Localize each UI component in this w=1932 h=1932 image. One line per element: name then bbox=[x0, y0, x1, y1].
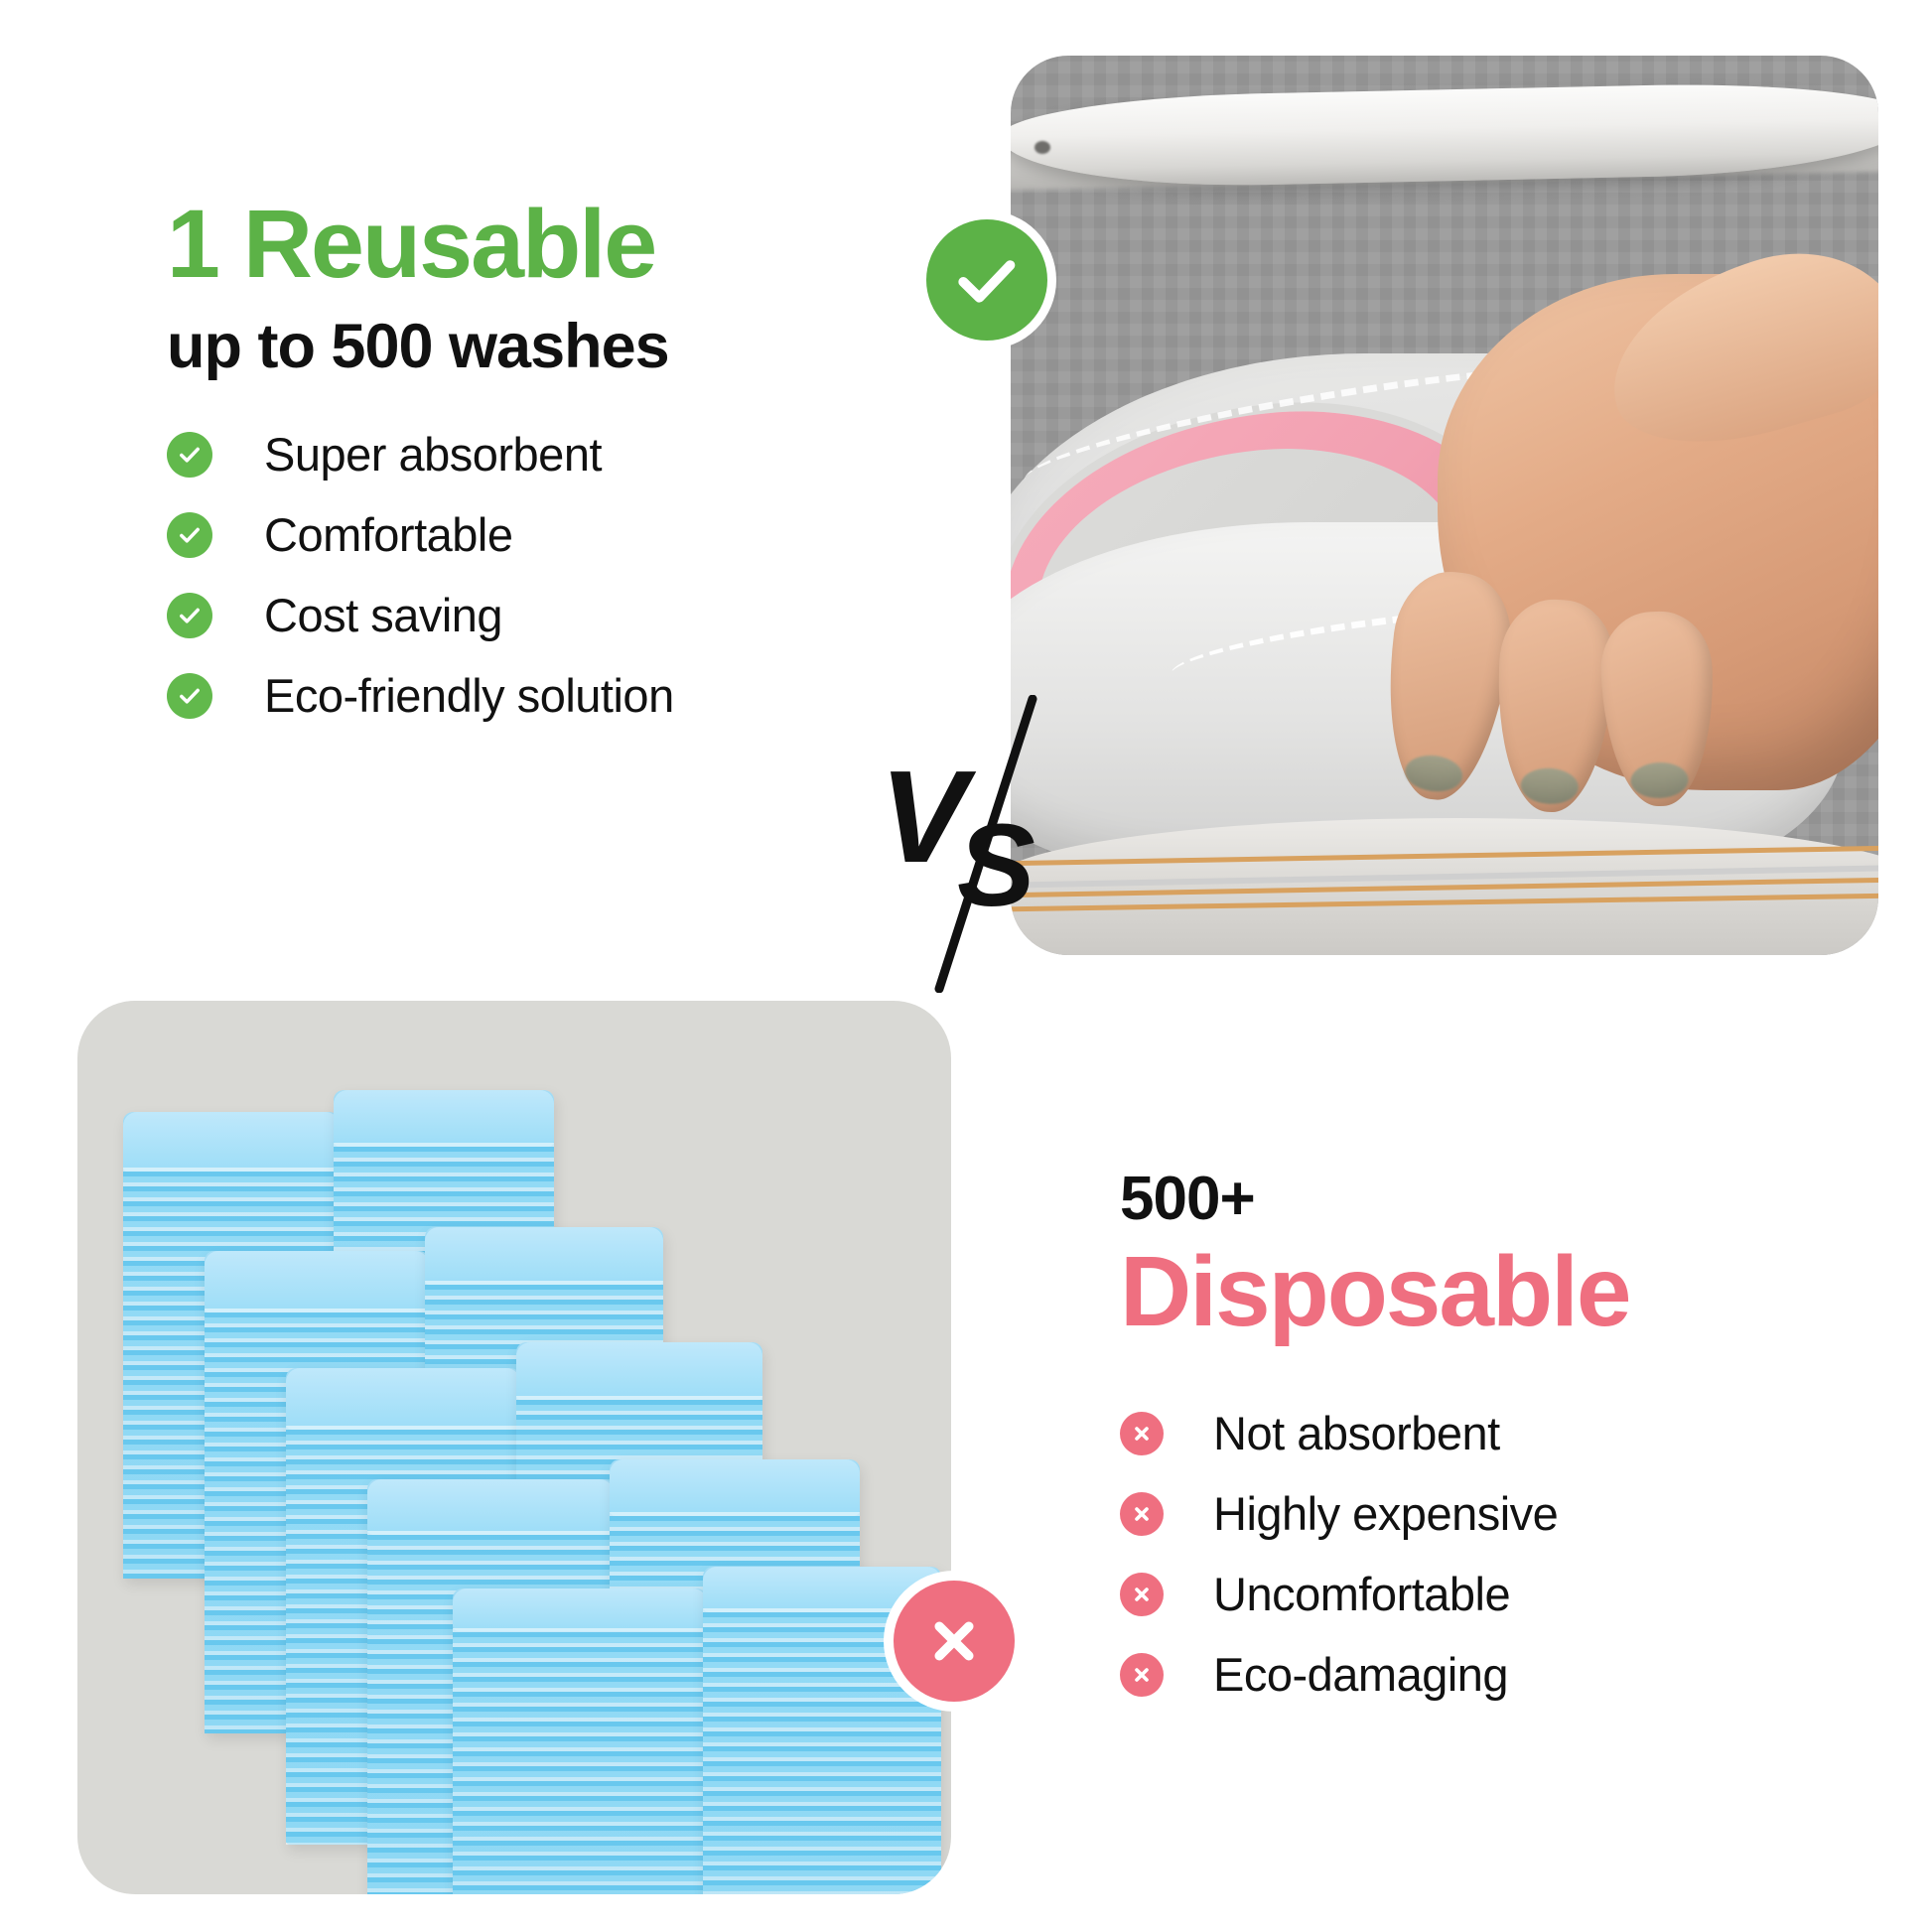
close-icon bbox=[1130, 1502, 1154, 1526]
disposable-count: 500+ bbox=[1120, 1167, 1855, 1231]
pad-stack-top bbox=[516, 1342, 762, 1401]
pad-stack-layers bbox=[453, 1628, 707, 1894]
pad-stack-top bbox=[453, 1588, 707, 1631]
list-item-label: Eco-friendly solution bbox=[264, 668, 674, 723]
list-item: Highly expensive bbox=[1120, 1486, 1855, 1541]
disposable-text-block: 500+ Disposable Not absorbent Highly exp… bbox=[1120, 1167, 1855, 1727]
x-circle-icon bbox=[1120, 1653, 1164, 1697]
pad-stack-top bbox=[610, 1459, 860, 1516]
check-icon bbox=[176, 521, 204, 549]
fingernail-1 bbox=[1403, 753, 1464, 795]
list-item-label: Eco-damaging bbox=[1213, 1647, 1508, 1702]
list-item-label: Highly expensive bbox=[1213, 1486, 1558, 1541]
red-x-badge-icon bbox=[884, 1571, 1025, 1712]
list-item: Eco-damaging bbox=[1120, 1647, 1855, 1702]
list-item-label: Comfortable bbox=[264, 507, 513, 562]
check-circle-icon bbox=[167, 593, 212, 638]
reusable-underwear-in-washing-machine-photo bbox=[1011, 56, 1878, 955]
list-item-label: Uncomfortable bbox=[1213, 1567, 1510, 1621]
list-item-label: Super absorbent bbox=[264, 427, 602, 482]
list-item: Eco-friendly solution bbox=[167, 668, 862, 723]
drum-wire-lines-icon bbox=[1011, 846, 1878, 915]
page-title-disposable: Disposable bbox=[1120, 1239, 1855, 1344]
fingernail-2 bbox=[1520, 766, 1580, 805]
close-icon bbox=[1130, 1663, 1154, 1687]
pad-stack-top bbox=[123, 1112, 340, 1173]
pad-stack-top bbox=[286, 1368, 520, 1430]
close-icon bbox=[921, 1608, 987, 1674]
check-icon bbox=[176, 441, 204, 469]
check-icon bbox=[949, 242, 1025, 318]
pad-stack-top bbox=[367, 1479, 614, 1535]
pad-stack bbox=[453, 1588, 707, 1894]
pad-stack-top bbox=[425, 1227, 663, 1286]
check-icon bbox=[176, 602, 204, 629]
svg-text:S: S bbox=[957, 800, 1035, 931]
list-item-label: Not absorbent bbox=[1213, 1406, 1500, 1460]
list-item: Not absorbent bbox=[1120, 1406, 1855, 1460]
list-item-label: Cost saving bbox=[264, 588, 502, 642]
x-circle-icon bbox=[1120, 1573, 1164, 1616]
reusable-text-block: 1 Reusable up to 500 washes Super absorb… bbox=[167, 195, 862, 749]
list-item: Cost saving bbox=[167, 588, 862, 642]
fingernail-3 bbox=[1630, 761, 1689, 799]
close-icon bbox=[1130, 1583, 1154, 1606]
green-check-badge-icon bbox=[917, 210, 1056, 349]
green-check-disc bbox=[926, 219, 1047, 341]
disposable-con-list: Not absorbent Highly expensive Uncomfort… bbox=[1120, 1406, 1855, 1702]
pad-stack-top bbox=[334, 1090, 554, 1147]
versus-mark: V S bbox=[874, 695, 1132, 993]
comparison-infographic: V S 1 Reusable up to 500 washes Super ab… bbox=[0, 0, 1932, 1932]
check-circle-icon bbox=[167, 512, 212, 558]
list-item: Uncomfortable bbox=[1120, 1567, 1855, 1621]
check-circle-icon bbox=[167, 432, 212, 478]
x-circle-icon bbox=[1120, 1492, 1164, 1536]
reusable-feature-list: Super absorbent Comfortable Cost saving bbox=[167, 427, 862, 723]
pad-stack-top bbox=[205, 1251, 429, 1313]
red-x-disc bbox=[894, 1581, 1015, 1702]
reusable-subtitle: up to 500 washes bbox=[167, 313, 862, 381]
vs-slash-icon: V S bbox=[874, 695, 1132, 993]
x-circle-icon bbox=[1120, 1412, 1164, 1455]
list-item: Comfortable bbox=[167, 507, 862, 562]
close-icon bbox=[1130, 1422, 1154, 1446]
page-title-reusable: 1 Reusable bbox=[167, 195, 862, 295]
check-circle-icon bbox=[167, 673, 212, 719]
drum-rim-hole bbox=[1035, 141, 1050, 154]
check-icon bbox=[176, 682, 204, 710]
list-item: Super absorbent bbox=[167, 427, 862, 482]
disposable-pads-stacks-photo bbox=[77, 1001, 951, 1894]
